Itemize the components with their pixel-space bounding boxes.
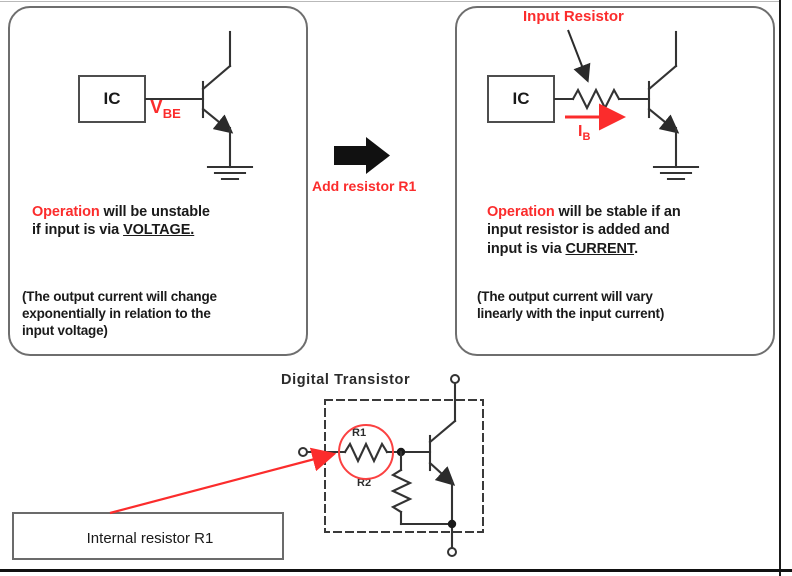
page-rule-right (779, 0, 781, 576)
collector-terminal (451, 375, 459, 383)
callout-leader-line (110, 455, 330, 513)
input-resistor-label: Input Resistor (523, 8, 624, 27)
r1-zigzag (345, 444, 387, 461)
right-note: (The output current will vary linearly w… (477, 288, 767, 322)
vbe-label: VBE (150, 96, 181, 122)
left-statement-rest: will be unstable (100, 204, 210, 220)
page-rule-bottom (0, 569, 792, 572)
right-statement-underlined: CURRENT (565, 241, 634, 257)
left-statement-lead: Operation (32, 204, 100, 220)
left-statement-line2-pre: if input is via (32, 222, 123, 238)
emitter-terminal (448, 548, 456, 556)
ic-block-left: IC (78, 75, 146, 123)
right-statement-line3-post: . (634, 241, 638, 257)
page-rule-top (0, 1, 780, 2)
r1-label: R1 (352, 427, 366, 441)
digital-transistor-dashed-boundary (325, 400, 483, 532)
right-arrow-icon (334, 137, 390, 174)
ic-label-left: IC (80, 77, 144, 121)
add-resistor-caption: Add resistor R1 (312, 178, 416, 196)
left-statement-underlined: VOLTAGE. (123, 222, 194, 238)
right-statement-line2: input resistor is added and (487, 222, 670, 238)
dt-collector-leg (430, 421, 455, 442)
right-statement-line3-pre: input is via (487, 241, 565, 257)
ic-block-right: IC (487, 75, 555, 123)
left-statement: Operation will be unstableif input is vi… (32, 203, 294, 240)
input-terminal (299, 448, 307, 456)
right-statement: Operation will be stable if aninput resi… (487, 203, 765, 258)
r2-label: R2 (357, 477, 371, 491)
dt-emitter-leg (430, 463, 452, 483)
left-note: (The output current will change exponent… (22, 288, 308, 339)
ib-label: IB (578, 122, 590, 145)
right-statement-lead: Operation (487, 204, 555, 220)
digital-transistor-title: Digital Transistor (281, 371, 410, 389)
base-node (397, 448, 405, 456)
right-statement-rest: will be stable if an (555, 204, 681, 220)
emitter-node (448, 520, 456, 528)
r2-zigzag (393, 470, 410, 512)
internal-resistor-callout-text: Internal resistor R1 (14, 514, 286, 562)
internal-resistor-callout-box: Internal resistor R1 (12, 512, 284, 560)
diagram-page: IC VBE Operation will be unstableif inpu… (0, 0, 792, 576)
ic-label-right: IC (489, 77, 553, 121)
